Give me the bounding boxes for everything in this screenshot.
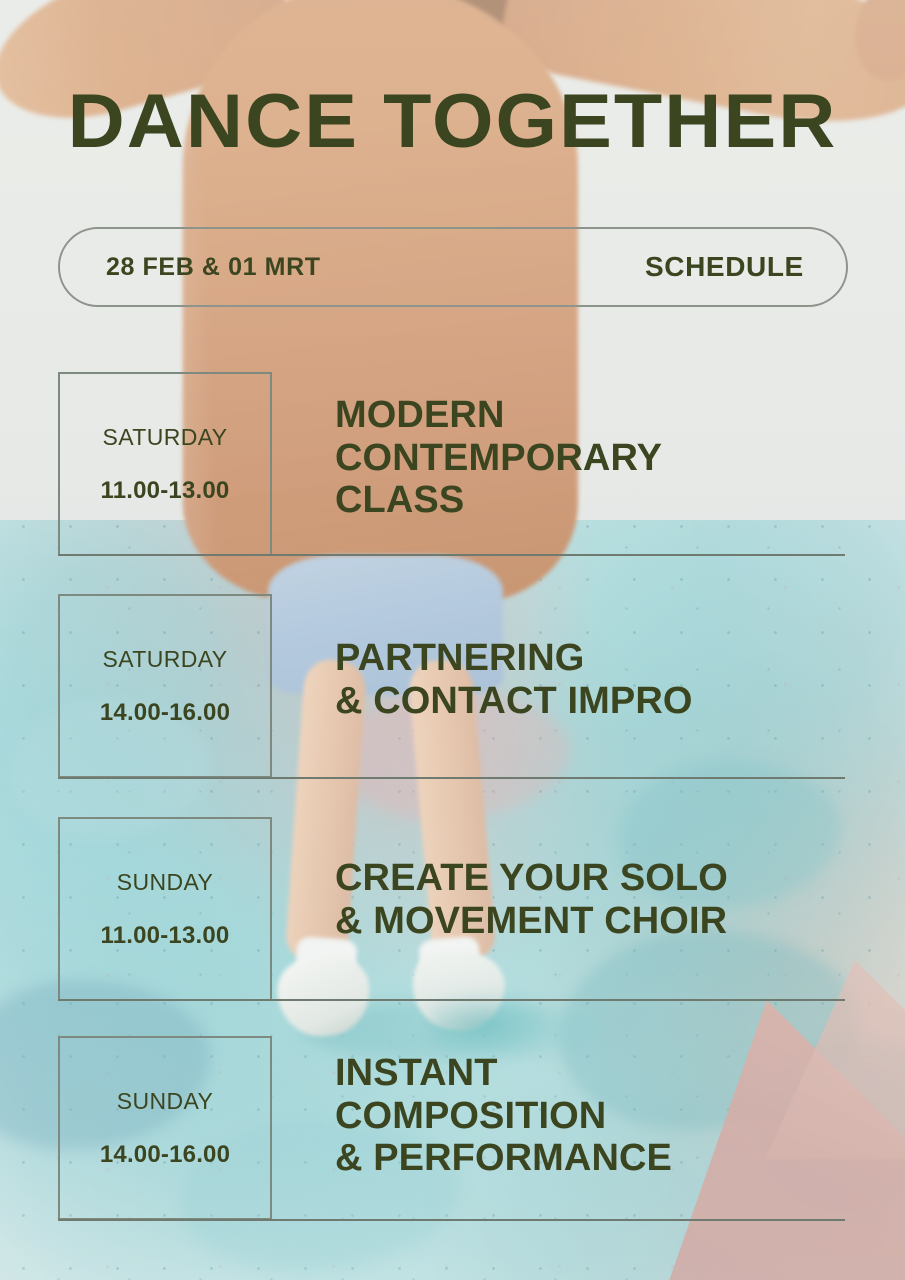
poster-canvas: DANCE TOGETHER 28 FEB & 01 MRT SCHEDULE … xyxy=(0,0,905,1280)
schedule-row-title: MODERN CONTEMPORARY CLASS xyxy=(335,394,662,522)
schedule-row-divider xyxy=(58,1219,845,1221)
schedule-row-day: SATURDAY xyxy=(102,646,227,673)
schedule-row-title: INSTANT COMPOSITION & PERFORMANCE xyxy=(335,1052,672,1180)
banner-dates: 28 FEB & 01 MRT xyxy=(106,253,321,282)
schedule-row-daybox: SUNDAY 14.00-16.00 xyxy=(58,1036,272,1220)
schedule-row-time: 14.00-16.00 xyxy=(100,1141,230,1169)
schedule-row-daybox: SUNDAY 11.00-13.00 xyxy=(58,817,272,1001)
schedule-row-daybox: SATURDAY 14.00-16.00 xyxy=(58,594,272,778)
schedule-row-day: SUNDAY xyxy=(117,1088,214,1115)
schedule-row-divider xyxy=(58,554,845,556)
schedule-row-divider xyxy=(58,777,845,779)
schedule-row-day: SATURDAY xyxy=(102,424,227,451)
page-title: DANCE TOGETHER xyxy=(0,84,905,160)
schedule-row-title: CREATE YOUR SOLO & MOVEMENT CHOIR xyxy=(335,857,728,942)
schedule-row-time: 11.00-13.00 xyxy=(101,922,230,950)
schedule-banner: 28 FEB & 01 MRT SCHEDULE xyxy=(58,227,848,307)
schedule-row-day: SUNDAY xyxy=(117,869,214,896)
schedule-row-title: PARTNERING & CONTACT IMPRO xyxy=(335,637,693,722)
schedule-row-divider xyxy=(58,999,845,1001)
banner-label: SCHEDULE xyxy=(645,251,804,283)
schedule-row-daybox: SATURDAY 11.00-13.00 xyxy=(58,372,272,556)
schedule-row-time: 14.00-16.00 xyxy=(100,699,230,727)
schedule-row-time: 11.00-13.00 xyxy=(101,477,230,505)
poster-content: DANCE TOGETHER 28 FEB & 01 MRT SCHEDULE … xyxy=(0,0,905,1280)
